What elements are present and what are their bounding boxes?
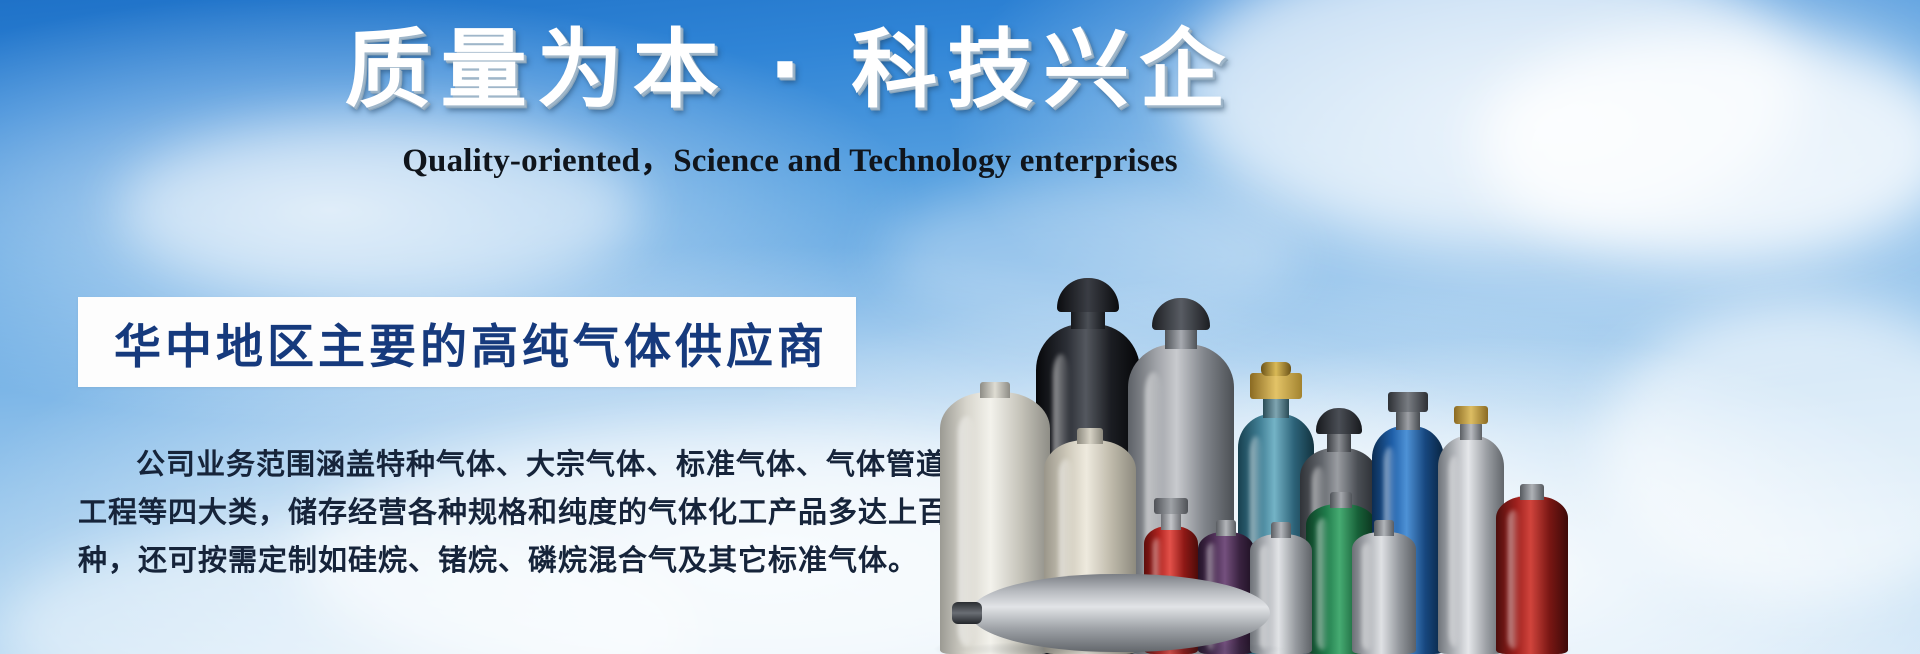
cylinder-neck (1327, 432, 1351, 452)
valve-knob (1154, 498, 1188, 514)
cylinder-neck (1396, 410, 1420, 430)
cylinder-neck (1374, 520, 1394, 536)
cylinder-valve (952, 602, 982, 624)
cylinder-valve-guard (1057, 278, 1119, 312)
cylinder-body (970, 574, 1270, 652)
cylinder-neck (1161, 512, 1181, 530)
cylinder-body (1496, 496, 1568, 654)
silver-aluminium-cylinder (1438, 396, 1504, 654)
cylinder-highlight (1449, 456, 1460, 648)
cylinder-highlight (1317, 518, 1328, 650)
cylinder-neck (1271, 522, 1291, 538)
brass-valve (1454, 406, 1488, 424)
cylinder-highlight (1362, 543, 1372, 650)
grey-lying-cylinder (970, 574, 1270, 652)
tagline-text: 华中地区主要的高纯气体供应商 (78, 308, 828, 377)
cylinder-body (1352, 532, 1416, 654)
valve-knob (1388, 392, 1428, 412)
banner-headline: 质量为本 · 科技兴企 (330, 22, 1250, 118)
cylinder-neck (1071, 309, 1105, 329)
brass-valve (1250, 373, 1302, 399)
cylinder-body (1438, 436, 1504, 654)
silver-aluminium-cylinder (1352, 504, 1416, 654)
cylinder-neck (1263, 396, 1289, 418)
cylinder-neck (1330, 492, 1352, 508)
banner-description: 公司业务范围涵盖特种气体、大宗气体、标准气体、气体管道 工程等四大类，储存经营各… (78, 440, 868, 584)
cylinder-neck (980, 382, 1010, 398)
tagline-box: 华中地区主要的高纯气体供应商 (78, 297, 856, 387)
cylinder-neck (1520, 484, 1544, 500)
description-line-3: 种，还可按需定制如硅烷、锗烷、磷烷混合气及其它标准气体。 (78, 536, 868, 584)
cylinder-neck (1460, 422, 1482, 440)
description-line-2: 工程等四大类，储存经营各种规格和纯度的气体化工产品多达上百 (78, 488, 868, 536)
valve-handwheel (1261, 362, 1291, 376)
cylinder-highlight (1508, 510, 1520, 649)
description-line-1: 公司业务范围涵盖特种气体、大宗气体、标准气体、气体管道 (78, 440, 868, 488)
promo-banner: 质量为本 · 科技兴企 Quality-oriented，Science and… (0, 0, 1920, 654)
cylinder-valve-guard (1152, 298, 1210, 330)
gas-cylinder-product-photo (940, 150, 1920, 654)
cylinder-neck (1216, 520, 1236, 536)
dark-red-cylinder (1496, 464, 1568, 654)
cylinder-neck (1165, 327, 1197, 349)
cylinder-valve-guard (1316, 408, 1362, 434)
cylinder-neck (1077, 428, 1103, 444)
